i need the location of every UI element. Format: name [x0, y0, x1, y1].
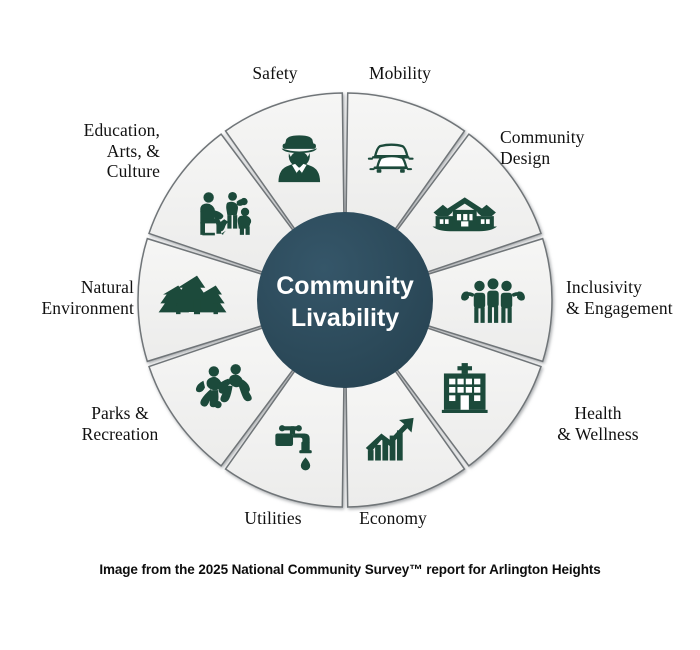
- figure-canvas: Community Livability MobilityCommunity D…: [0, 0, 700, 650]
- hub-circle: [257, 212, 433, 388]
- segment-label-health-wellness: Health & Wellness: [528, 403, 668, 444]
- hub-label-line2: Livability: [291, 304, 399, 332]
- segment-label-mobility: Mobility: [330, 63, 470, 84]
- segment-label-parks-recreation: Parks & Recreation: [50, 403, 190, 444]
- figure-caption: Image from the 2025 National Community S…: [0, 562, 700, 577]
- segment-label-natural-environment: Natural Environment: [0, 277, 134, 318]
- segment-label-inclusivity-engagement: Inclusivity & Engagement: [566, 277, 700, 318]
- segment-label-utilities: Utilities: [198, 508, 348, 529]
- segment-label-education-arts-culture: Education, Arts, & Culture: [32, 120, 160, 182]
- hub-label-line1: Community: [276, 272, 414, 300]
- segment-label-safety: Safety: [200, 63, 350, 84]
- segment-label-community-design: Community Design: [500, 127, 660, 168]
